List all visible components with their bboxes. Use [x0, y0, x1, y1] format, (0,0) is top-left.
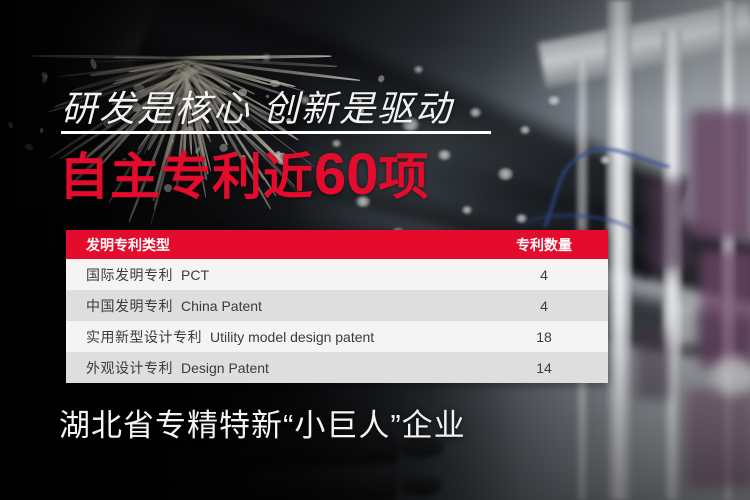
cell-type-en: China Patent — [181, 298, 262, 314]
patent-poster: 研发是核心 创新是驱动 自主专利近60项 发明专利类型 专利数量 国际发明专利P… — [0, 0, 750, 500]
headline-primary: 研发是核心 创新是驱动 — [61, 80, 453, 132]
cell-type-en: PCT — [181, 267, 209, 283]
cell-patent-type: 中国发明专利China Patent — [66, 296, 480, 316]
cell-patent-type: 实用新型设计专利Utility model design patent — [66, 327, 480, 347]
headline-secondary-suffix: 项 — [379, 149, 430, 205]
column-header-type: 发明专利类型 — [66, 235, 480, 255]
cell-type-en: Design Patent — [181, 360, 269, 376]
cell-patent-count: 4 — [480, 267, 608, 283]
cell-patent-count: 14 — [480, 360, 608, 376]
table-row: 实用新型设计专利Utility model design patent 18 — [66, 321, 608, 352]
table-row: 外观设计专利Design Patent 14 — [66, 352, 608, 383]
headline-divider-rule — [61, 131, 491, 134]
table-row: 中国发明专利China Patent 4 — [66, 290, 608, 321]
table-body: 国际发明专利PCT 4 中国发明专利China Patent 4 实用新型设计专… — [66, 259, 608, 383]
headline-secondary: 自主专利近60项 — [59, 146, 430, 204]
cell-patent-type: 外观设计专利Design Patent — [66, 358, 480, 378]
cell-type-cn: 国际发明专利 — [86, 267, 173, 283]
cell-patent-count: 18 — [480, 329, 608, 345]
headline-secondary-prefix: 自主专利近 — [59, 149, 314, 205]
table-header-row: 发明专利类型 专利数量 — [66, 230, 608, 259]
headline-secondary-number: 60 — [314, 142, 379, 207]
cell-type-en: Utility model design patent — [210, 329, 374, 345]
column-header-count: 专利数量 — [480, 235, 608, 255]
poster-caption: 湖北省专精特新“小巨人”企业 — [59, 400, 466, 445]
patent-table: 发明专利类型 专利数量 国际发明专利PCT 4 中国发明专利China Pate… — [66, 230, 608, 383]
poster-content: 研发是核心 创新是驱动 自主专利近60项 发明专利类型 专利数量 国际发明专利P… — [0, 0, 750, 500]
cell-patent-count: 4 — [480, 298, 608, 314]
cell-type-cn: 外观设计专利 — [86, 360, 173, 376]
cell-patent-type: 国际发明专利PCT — [66, 265, 480, 285]
cell-type-cn: 实用新型设计专利 — [86, 329, 202, 345]
cell-type-cn: 中国发明专利 — [86, 298, 173, 314]
table-row: 国际发明专利PCT 4 — [66, 259, 608, 290]
